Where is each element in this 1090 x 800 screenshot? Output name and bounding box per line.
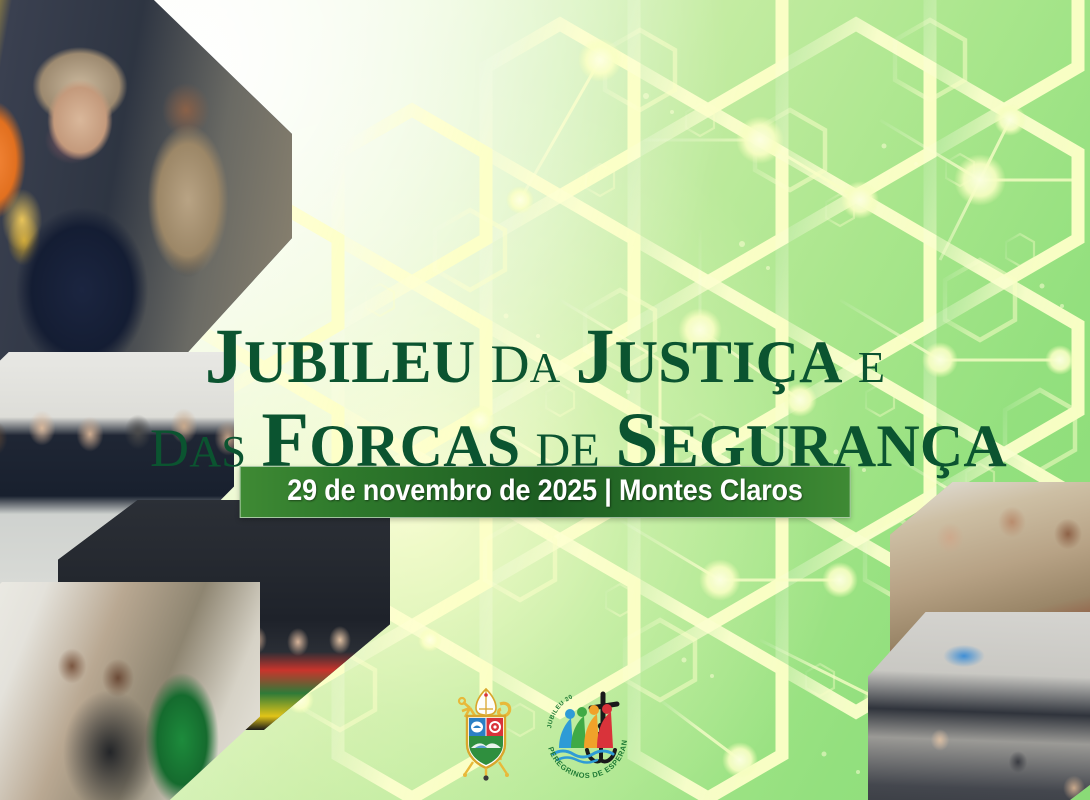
diocese-coat-of-arms-logo <box>453 686 519 782</box>
jubilee-2025-logo: PEREGRINOS DE ESPERANÇA JUBILEU 2025 <box>537 686 637 782</box>
page-title: JJubileuUBILEU DA JUSTIÇA E DAS FORÇAS D… <box>150 318 940 479</box>
photo-flag-procession <box>0 582 260 800</box>
date-location-text: 29 de novembro de 2025 | Montes Claros <box>287 474 802 508</box>
logo-row: PEREGRINOS DE ESPERANÇA JUBILEU 2025 <box>453 686 637 782</box>
photo-oab-auditorium <box>868 612 1090 800</box>
title-line-1: JJubileuUBILEU DA JUSTIÇA E <box>150 318 940 394</box>
event-banner: JJubileuUBILEU DA JUSTIÇA E DAS FORÇAS D… <box>0 0 1090 800</box>
date-location-badge: 29 de novembro de 2025 | Montes Claros <box>240 466 851 518</box>
